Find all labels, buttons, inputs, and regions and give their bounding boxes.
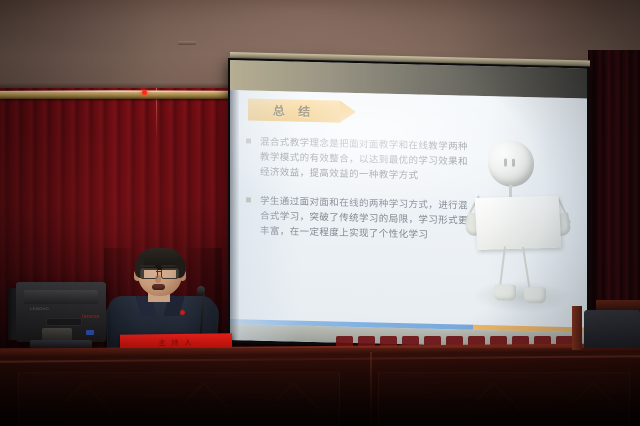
bullet-square-icon bbox=[246, 138, 251, 143]
mannequin-illustration bbox=[448, 137, 576, 330]
curtain-rail-highlight bbox=[0, 90, 235, 92]
mouth bbox=[152, 284, 165, 290]
monitor-stand bbox=[30, 340, 92, 348]
screen-surface: 总 结 混合式教学理念是把面对面教学和在线教学两种 教学模式的有效整合，以达到最… bbox=[230, 60, 587, 348]
screen-left-shadow bbox=[230, 90, 239, 340]
eyeglasses-right-lens bbox=[161, 268, 179, 279]
mannequin-shadow bbox=[472, 280, 572, 314]
mannequin-foot-right bbox=[524, 287, 546, 304]
ceiling-vent-icon bbox=[178, 41, 196, 45]
eyeglasses-bridge bbox=[156, 271, 161, 272]
eyebrow-right bbox=[161, 265, 176, 267]
photo-scene: 总 结 混合式教学理念是把面对面教学和在线教学两种 教学模式的有效整合，以达到最… bbox=[0, 0, 640, 426]
mannequin-blank-board bbox=[475, 196, 562, 250]
title-banner-arrow bbox=[340, 101, 356, 123]
slide-content: 总 结 混合式教学理念是把面对面教学和在线教学两种 教学模式的有效整合，以达到最… bbox=[230, 90, 587, 348]
chair-back bbox=[584, 310, 640, 348]
bullet-item: 学生通过面对面和在线的两种学习方式，进行混 合式学习，突破了传统学习的局限，学习… bbox=[244, 193, 459, 243]
mannequin-foot-left bbox=[494, 284, 516, 301]
slide-bullet-list: 混合式教学理念是把面对面教学和在线教学两种 教学模式的有效整合，以达到最优的学习… bbox=[244, 134, 459, 257]
slide-title: 总 结 bbox=[248, 98, 340, 122]
monitor-vent-slot bbox=[46, 318, 82, 326]
microphone-head-icon bbox=[197, 286, 205, 296]
lapel-pin bbox=[180, 310, 185, 315]
projection-screen: 总 结 混合式教学理念是把面对面教学和在线教学两种 教学模式的有效整合，以达到最… bbox=[228, 58, 590, 352]
mannequin-eye-left bbox=[504, 159, 507, 167]
chair-wooden-post bbox=[572, 306, 582, 350]
monitor-brand-label: LENOVO bbox=[30, 306, 49, 311]
mannequin-head bbox=[488, 140, 534, 187]
desk-seam bbox=[370, 352, 372, 426]
monitor-logo: lenovo bbox=[82, 314, 100, 320]
eyebrow-left bbox=[140, 265, 155, 267]
bullet-item: 混合式教学理念是把面对面教学和在线教学两种 教学模式的有效整合，以达到最优的学习… bbox=[244, 134, 459, 184]
monitor-bevel bbox=[24, 290, 98, 304]
desk-device-indicator bbox=[86, 330, 94, 335]
curtain-rail bbox=[0, 91, 235, 99]
mannequin-eye-right bbox=[512, 159, 515, 167]
indicator-light-icon bbox=[142, 90, 147, 95]
bullet-square-icon bbox=[246, 197, 251, 202]
nose bbox=[155, 275, 161, 283]
